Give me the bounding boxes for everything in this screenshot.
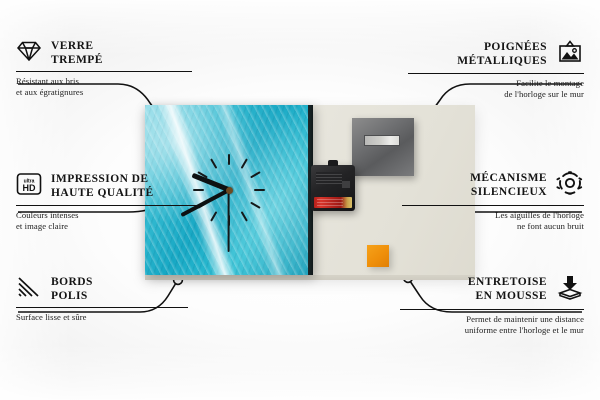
picture-frame-hook-icon <box>556 40 584 69</box>
svg-text:HD: HD <box>23 183 36 193</box>
mechanism-stem <box>328 160 338 166</box>
callout-subtitle: Couleurs intenses et image claire <box>16 210 202 232</box>
callout-rule <box>400 309 584 310</box>
callout-title: VERRE TREMPÉ <box>51 40 103 67</box>
battery-label <box>317 199 343 206</box>
callout-entretoise-en-mousse: ENTRETOISE EN MOUSSE Permet de maintenir… <box>396 274 584 336</box>
product-infographic: VERRE TREMPÉ Résistant aux bris et aux é… <box>0 0 600 400</box>
handle-slot <box>364 135 400 146</box>
callout-subtitle: Permet de maintenir une distance uniform… <box>396 314 584 336</box>
callout-subtitle: Les aiguilles de l'horloge ne font aucun… <box>398 210 584 232</box>
callout-impression-haute-qualite: ultra HD IMPRESSION DE HAUTE QUALITÉ Cou… <box>16 172 202 232</box>
polished-edge-icon <box>16 276 42 303</box>
callout-rule <box>16 307 188 308</box>
mechanism-chip <box>342 181 350 188</box>
callout-title: ENTRETOISE EN MOUSSE <box>468 276 547 303</box>
callout-bords-polis: BORDS POLIS Surface lisse et sûre <box>16 276 192 323</box>
metal-handle-plate <box>352 118 414 176</box>
callout-poignees-metalliques: POIGNÉES MÉTALLIQUES Facilite le montage… <box>404 40 584 100</box>
callout-title: MÉCANISME SILENCIEUX <box>470 172 547 199</box>
callout-verre-trempe: VERRE TREMPÉ Résistant aux bris et aux é… <box>16 40 196 98</box>
battery <box>314 197 352 208</box>
clock-mechanism <box>311 165 355 211</box>
callout-subtitle: Facilite le montage de l'horloge sur le … <box>404 78 584 100</box>
callout-subtitle: Résistant aux bris et aux égratignures <box>16 76 196 98</box>
callout-mecanisme-silencieux: MÉCANISME SILENCIEUX Les aiguilles de l'… <box>398 170 584 232</box>
callout-rule <box>16 71 192 72</box>
foam-spacer <box>367 245 389 267</box>
press-down-pad-icon <box>556 274 584 305</box>
callout-title: IMPRESSION DE HAUTE QUALITÉ <box>51 173 154 200</box>
clock-center-cap <box>226 187 233 194</box>
callout-rule <box>408 73 584 74</box>
clock-second-hand <box>228 190 230 252</box>
callout-rule <box>16 205 198 206</box>
callout-title: BORDS POLIS <box>51 276 93 303</box>
mechanism-grill <box>316 172 342 184</box>
callout-title: POIGNÉES MÉTALLIQUES <box>457 41 547 68</box>
diamond-icon <box>16 40 42 67</box>
callout-rule <box>402 205 584 206</box>
ultra-hd-icon: ultra HD <box>16 172 42 201</box>
callout-subtitle: Surface lisse et sûre <box>16 312 192 323</box>
gear-icon <box>556 170 584 201</box>
